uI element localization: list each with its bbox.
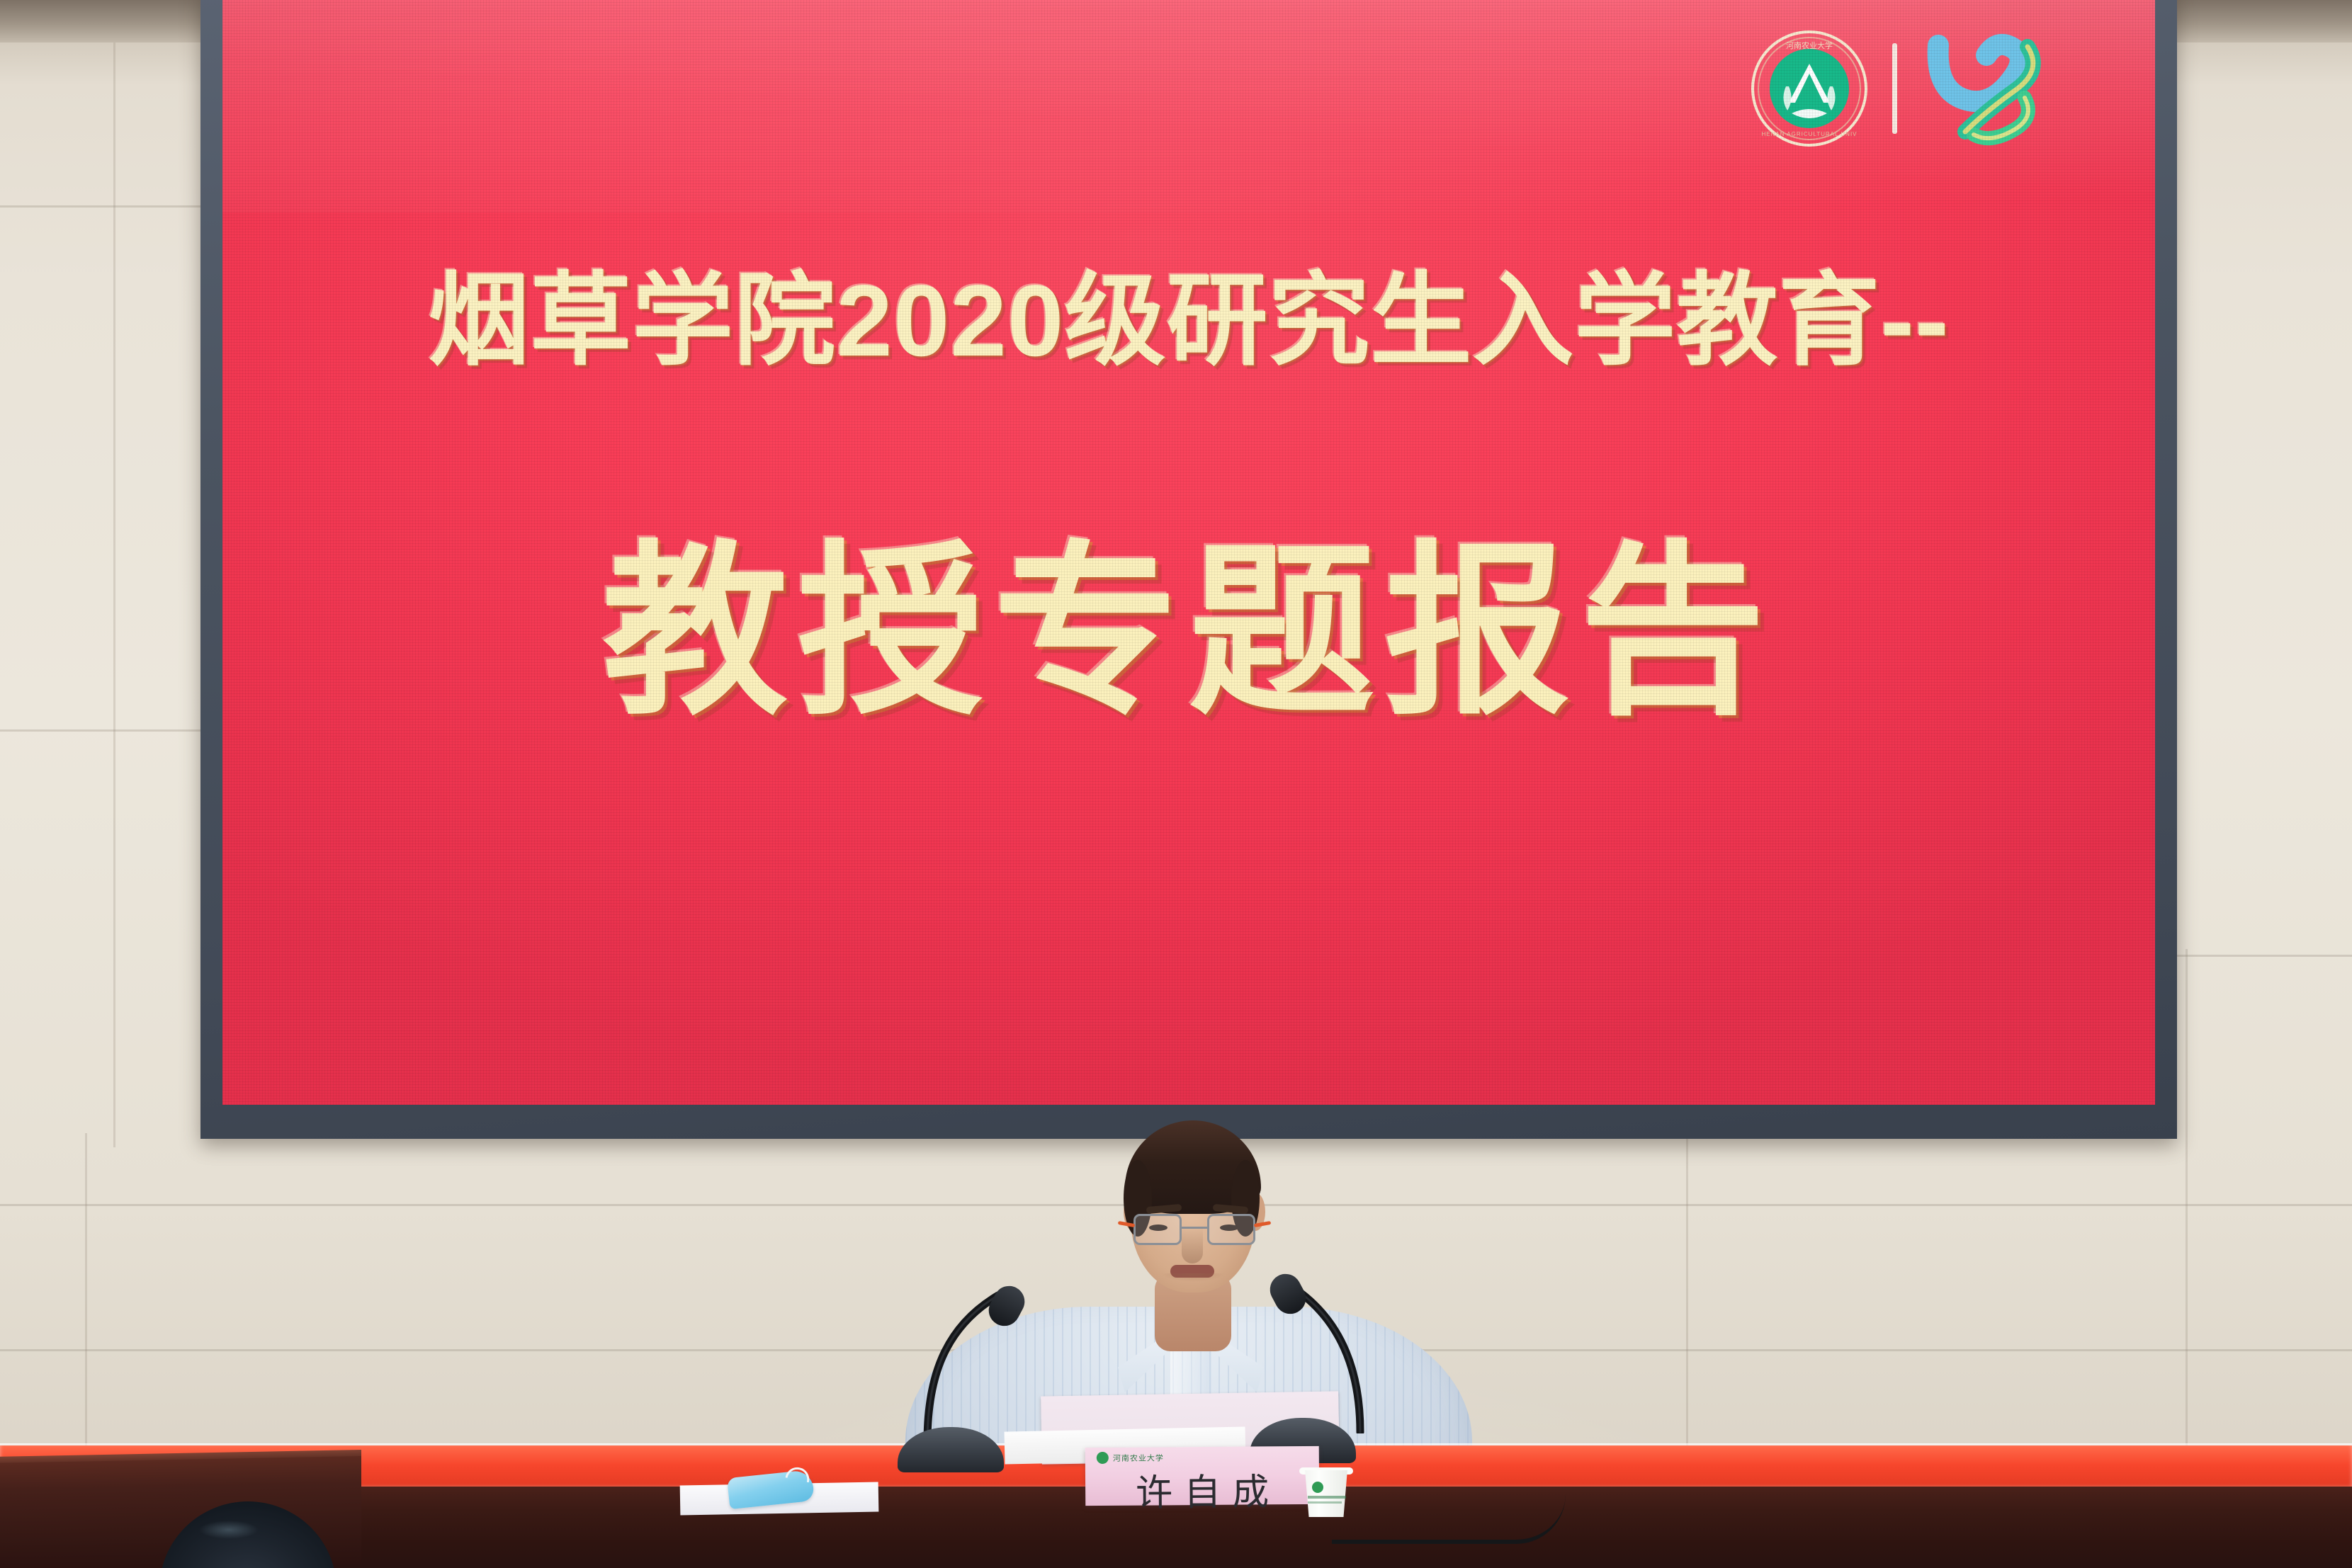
slide-title-line-2: 教授专题报告 [222,482,2155,750]
wall-tile-grout-line [85,1133,87,1459]
wall-tile-grout-line [113,42,115,1147]
eyeglass-lens-left [1133,1214,1182,1245]
audience-hair-highlight [190,1517,268,1543]
university-seal-icon: 河南农业大学 HENAN AGRICULTURAL UNIV [1751,30,1868,147]
led-screen-bezel: 河南农业大学 HENAN AGRICULTURAL UNIV 烟草 [200,0,2177,1139]
placard-org-brand: 河南农业大学 [1097,1451,1164,1464]
slide-title-line-1: 烟草学院2020级研究生入学教育-- [222,239,2155,385]
placard-org-label: 河南农业大学 [1113,1452,1164,1464]
led-screen-display: 河南农业大学 HENAN AGRICULTURAL UNIV 烟草 [222,0,2155,1105]
slide-logo-row: 河南农业大学 HENAN AGRICULTURAL UNIV [1751,30,2049,147]
eyeglass-lens-right [1207,1214,1255,1245]
svg-text:HENAN AGRICULTURAL UNIV: HENAN AGRICULTURAL UNIV [1761,131,1857,137]
conference-photo-scene: 河南农业大学 HENAN AGRICULTURAL UNIV 烟草 [0,0,2352,1568]
speaker-nose [1182,1227,1203,1263]
wall-tile-grout-line [1686,1133,1688,1459]
name-placard: 河南农业大学 许自成 [1085,1446,1320,1506]
wall-tile-grout-line [0,729,205,732]
logo-divider [1892,43,1897,134]
svg-text:河南农业大学: 河南农业大学 [1786,40,1833,50]
wall-tile-grout-line [2168,955,2352,957]
wall-tile-grout-line [0,205,205,208]
eyeglass-temple-right [1254,1221,1272,1227]
placard-speaker-name: 许自成 [1085,1462,1320,1516]
wall-tile-grout-line [2186,949,2188,1459]
paper-cup-logo-icon [1312,1482,1323,1493]
brand-swoosh-icon [1921,30,2049,147]
placard-logo-icon [1097,1452,1109,1464]
microphone-cable [1332,1494,1566,1544]
